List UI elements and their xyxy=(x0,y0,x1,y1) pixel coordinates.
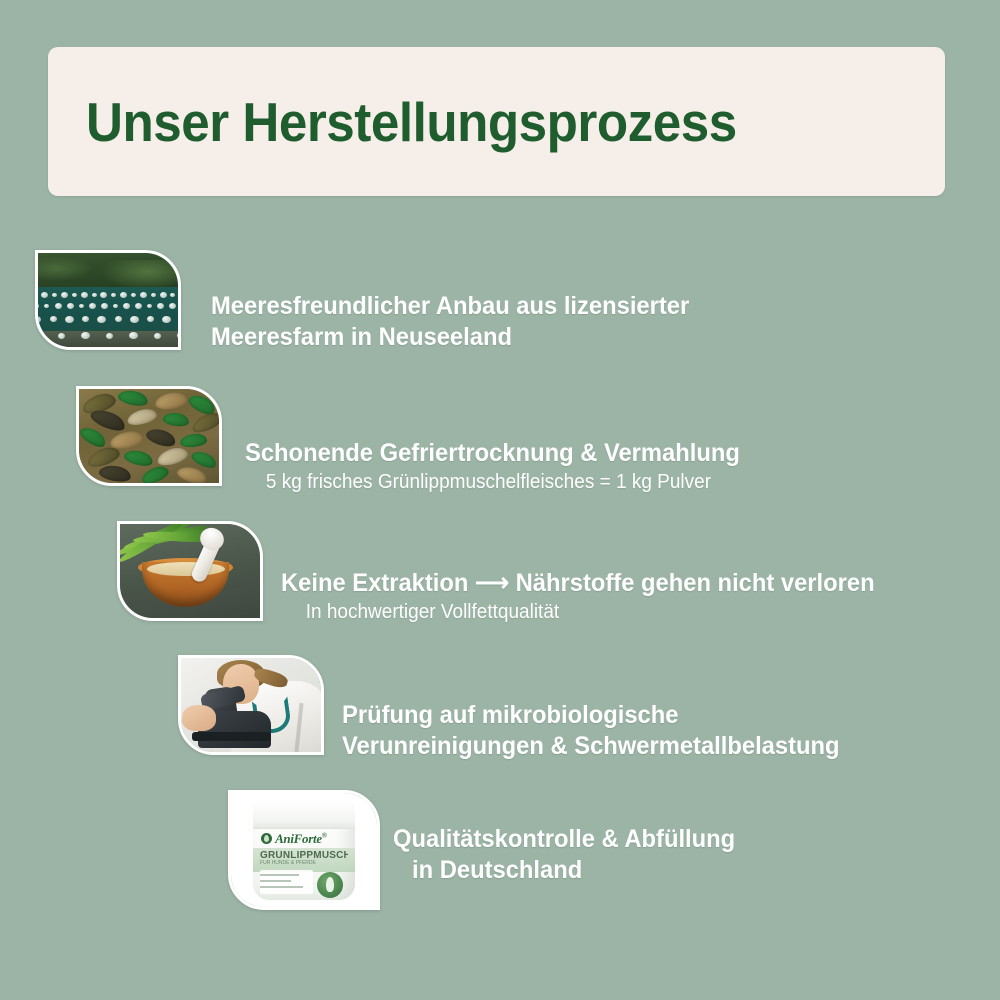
buoy-row xyxy=(35,302,181,310)
buoy-row xyxy=(35,315,181,323)
powder-bowl-photo xyxy=(117,521,263,621)
forest-hillside xyxy=(38,253,178,289)
step-1-title-line1: Meeresfreundlicher Anbau aus lizensierte… xyxy=(211,291,689,322)
buoy-row xyxy=(35,332,181,340)
infographic-poster: Unser Herstellungsprozess xyxy=(0,0,1000,1000)
product-jar: AniForte® GRÜNLIPPMUSCHEL PULVER FÜR HUN… xyxy=(253,800,355,900)
brand-lockup: AniForte® xyxy=(261,831,347,847)
aniforte-logo-icon xyxy=(261,833,272,844)
step-1-title-line2: Meeresfarm in Neuseeland xyxy=(211,322,689,353)
step-4-text: Prüfung auf mikrobiologische Verunreinig… xyxy=(342,700,866,762)
mussel-farm-photo xyxy=(35,250,181,350)
buoy-row xyxy=(35,291,181,299)
mussel-powder xyxy=(147,562,225,576)
step-3-text: Keine Extraktion ⟶ Nährstoffe gehen nich… xyxy=(281,568,906,625)
green-lipped-mussels-photo xyxy=(76,386,222,486)
quality-seal-icon xyxy=(317,872,343,898)
brand-name: AniForte® xyxy=(275,832,327,845)
title-card: Unser Herstellungsprozess xyxy=(48,47,945,196)
step-2-text: Schonende Gefriertrocknung & Vermahlung … xyxy=(245,438,766,495)
step-1-text: Meeresfreundlicher Anbau aus lizensierte… xyxy=(211,291,714,353)
step-2-subtitle: 5 kg frisches Grünlippmuschelfleisches =… xyxy=(245,469,740,495)
step-5-title-line1: Qualitätskontrolle & Abfüllung xyxy=(393,824,735,855)
microscope-stage xyxy=(192,732,270,741)
step-3-title-line1: Keine Extraktion ⟶ Nährstoffe gehen nich… xyxy=(281,568,875,599)
step-4-title-line1: Prüfung auf mikrobiologische xyxy=(342,700,840,731)
jar-lid xyxy=(253,800,355,829)
jar-product-subline: FÜR HUNDE & PFERDE xyxy=(260,860,348,866)
step-4-title-line2: Verunreinigungen & Schwermetallbelastung xyxy=(342,731,840,762)
step-5-text: Qualitätskontrolle & Abfüllung in Deutsc… xyxy=(393,824,753,886)
mussel-farm-scene xyxy=(38,253,178,347)
hand xyxy=(182,705,216,731)
mussel-pile-scene xyxy=(79,389,219,483)
product-jar-photo: AniForte® GRÜNLIPPMUSCHEL PULVER FÜR HUN… xyxy=(228,790,380,910)
laboratory-scene xyxy=(181,658,321,752)
step-3-subtitle: In hochwertiger Vollfettqualität xyxy=(281,599,875,625)
lab-microscope-photo xyxy=(178,655,324,755)
step-5-title-line2: in Deutschland xyxy=(393,855,735,886)
powder-bowl-scene xyxy=(120,524,260,618)
page-title: Unser Herstellungsprozess xyxy=(86,90,737,154)
step-2-title-line1: Schonende Gefriertrocknung & Vermahlung xyxy=(245,438,740,469)
product-jar-scene: AniForte® GRÜNLIPPMUSCHEL PULVER FÜR HUN… xyxy=(231,793,377,907)
